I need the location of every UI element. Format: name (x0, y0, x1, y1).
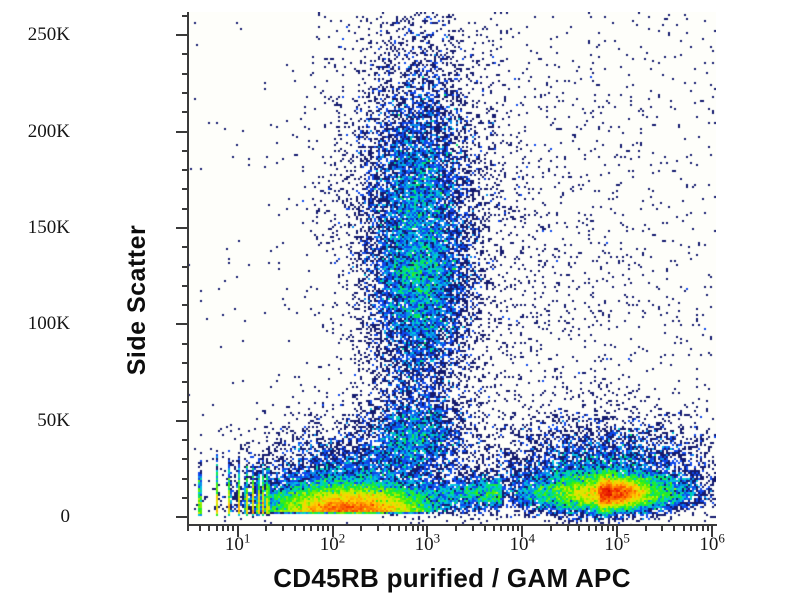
y-tick-minor (182, 478, 188, 480)
plot-area (188, 12, 716, 525)
x-tick-minor (303, 525, 305, 531)
x-tick-minor (673, 525, 675, 531)
x-tick-minor (578, 525, 580, 531)
y-tick-label: 50K (0, 410, 70, 432)
y-tick-major (176, 34, 188, 36)
y-tick-minor (182, 169, 188, 171)
scatter-density-canvas (188, 12, 716, 525)
x-tick-minor (405, 525, 407, 531)
x-tick-minor (199, 525, 201, 531)
y-tick-major (176, 516, 188, 518)
x-tick-label: 106 (699, 534, 725, 556)
y-tick-label: 250K (0, 24, 70, 46)
x-tick-minor (645, 525, 647, 531)
x-tick-label: 101 (225, 534, 251, 556)
x-tick-minor (317, 525, 319, 531)
x-tick-minor (690, 525, 692, 531)
x-tick-minor (377, 525, 379, 531)
x-tick-label: 103 (415, 534, 441, 556)
x-tick-minor (227, 525, 229, 531)
x-tick-minor (417, 525, 419, 531)
x-tick-label: 102 (320, 534, 346, 556)
y-tick-major (176, 420, 188, 422)
y-tick-minor (182, 458, 188, 460)
x-tick-minor (484, 525, 486, 531)
x-tick-minor (607, 525, 609, 531)
x-axis-title: CD45RB purified / GAM APC (188, 563, 716, 594)
x-tick-minor (550, 525, 552, 531)
x-tick-minor (389, 525, 391, 531)
y-tick-major (176, 131, 188, 133)
x-tick-minor (661, 525, 663, 531)
x-tick-minor (683, 525, 685, 531)
x-tick-minor (500, 525, 502, 531)
y-tick-minor (182, 15, 188, 17)
y-tick-minor (182, 150, 188, 152)
x-tick-minor (282, 525, 284, 531)
y-tick-minor (182, 246, 188, 248)
x-tick-minor (187, 525, 189, 531)
y-tick-minor (182, 381, 188, 383)
y-tick-minor (182, 497, 188, 499)
x-tick-minor (208, 525, 210, 531)
x-tick-minor (512, 525, 514, 531)
y-tick-major (176, 323, 188, 325)
x-tick-minor (232, 525, 234, 531)
y-tick-label: 200K (0, 121, 70, 143)
y-tick-minor (182, 208, 188, 210)
y-tick-minor (182, 111, 188, 113)
y-tick-minor (182, 343, 188, 345)
x-tick-label: 104 (510, 534, 536, 556)
y-tick-major (176, 227, 188, 229)
x-tick-minor (588, 525, 590, 531)
x-tick-minor (601, 525, 603, 531)
y-tick-minor (182, 53, 188, 55)
y-tick-label: 0 (0, 506, 70, 528)
x-tick-minor (322, 525, 324, 531)
y-tick-minor (182, 285, 188, 287)
x-tick-minor (327, 525, 329, 531)
y-tick-label: 100K (0, 313, 70, 335)
y-tick-minor (182, 304, 188, 306)
y-tick-minor (182, 401, 188, 403)
y-tick-minor (182, 73, 188, 75)
x-tick-minor (595, 525, 597, 531)
x-tick-minor (517, 525, 519, 531)
x-tick-label: 105 (604, 534, 630, 556)
x-tick-minor (702, 525, 704, 531)
x-tick-minor (707, 525, 709, 531)
x-tick-minor (216, 525, 218, 531)
x-tick-minor (422, 525, 424, 531)
y-tick-minor (182, 266, 188, 268)
y-axis-title: Side Scatter (123, 225, 152, 376)
x-tick-minor (265, 525, 267, 531)
y-tick-label: 150K (0, 217, 70, 239)
x-tick-minor (472, 525, 474, 531)
x-tick-minor (412, 525, 414, 531)
y-tick-minor (182, 362, 188, 364)
x-tick-minor (696, 525, 698, 531)
x-tick-minor (455, 525, 457, 531)
x-tick-minor (507, 525, 509, 531)
x-tick-minor (310, 525, 312, 531)
y-tick-minor (182, 188, 188, 190)
y-tick-minor (182, 439, 188, 441)
flow-cytometry-dot-plot: 250K200K150K100K50K0 101102103104105106 … (0, 0, 800, 600)
x-tick-minor (360, 525, 362, 531)
x-tick-minor (294, 525, 296, 531)
y-tick-minor (182, 92, 188, 94)
x-tick-minor (222, 525, 224, 531)
y-axis-line (187, 12, 189, 526)
x-tick-minor (493, 525, 495, 531)
x-tick-minor (398, 525, 400, 531)
x-tick-minor (567, 525, 569, 531)
x-tick-minor (612, 525, 614, 531)
